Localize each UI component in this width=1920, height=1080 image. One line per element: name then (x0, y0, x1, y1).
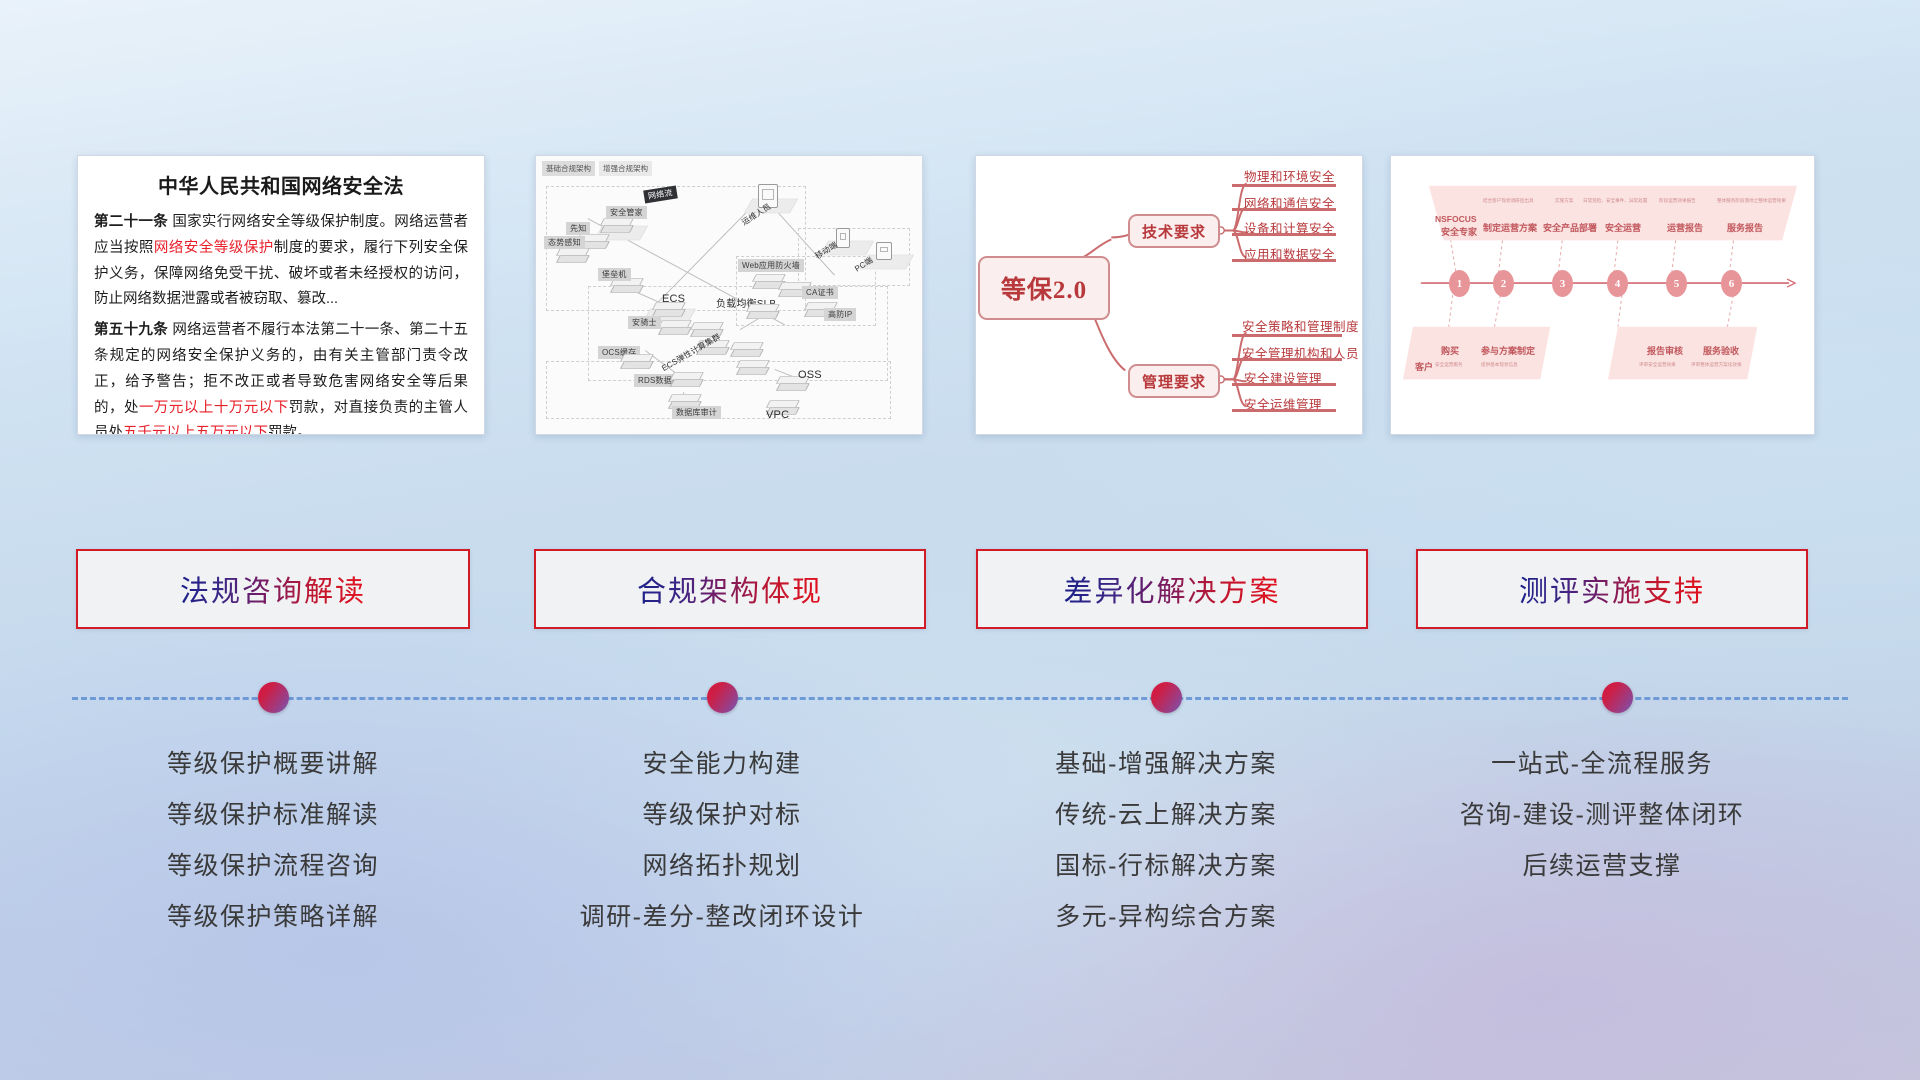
architecture-label-anti-ddos-ip: 高防IP (824, 308, 856, 321)
slide-canvas: 中华人民共和国网络安全法 第二十一条 国家实行网络安全等级保护制度。网络运营者应… (0, 0, 1920, 1080)
list-item: 一站式-全流程服务 (1402, 752, 1802, 777)
timeline-bottom-step-4: 服务验收 (1703, 344, 1739, 357)
timeline-top-sub-2: 实施方案 (1555, 198, 1573, 204)
architecture-label-security-butler: 安全管家 (606, 206, 647, 219)
mindmap-underline-2 (1232, 208, 1336, 211)
timeline-top-step-5: 服务报告 (1727, 221, 1763, 234)
mindmap-branch-management: 管理要求 (1128, 364, 1220, 398)
list-item: 网络拓扑规划 (522, 854, 922, 879)
nsfocus-expert-name: NSFOCUS (1435, 214, 1477, 224)
timeline-node-dot-3[interactable] (1151, 682, 1182, 713)
architecture-label-oss: OSS (794, 368, 826, 382)
architecture-label-bastion-host: 堡垒机 (598, 268, 631, 281)
list-item: 等级保护策略详解 (73, 905, 473, 930)
mindmap-leaf-security-policy-mgmt: 安全策略和管理制度 (1242, 316, 1359, 335)
list-item: 等级保护流程咨询 (73, 854, 473, 879)
timeline-marker-2: 2 (1493, 270, 1514, 297)
law-paragraph-1: 第二十一条 国家实行网络安全等级保护制度。网络运营者应当按照网络安全等级保护制度… (94, 210, 468, 313)
timeline-top-sub-1: 结合客户现状调研后出具 (1483, 198, 1534, 204)
architecture-node-situational-awareness (560, 248, 590, 268)
mindmap-branch-technical: 技术要求 (1128, 214, 1220, 248)
architecture-node-ocs-cache (624, 354, 654, 374)
column-compliance-architecture: 安全能力构建 等级保护对标 网络拓扑规划 调研-差分-整改闭环设计 (522, 752, 922, 930)
architecture-node-ecs-cluster-4 (740, 360, 770, 380)
timeline-marker-3: 3 (1552, 270, 1573, 297)
mindmap-underline-8 (1232, 409, 1336, 412)
mindmap-underline-6 (1232, 358, 1342, 361)
architecture-tab-basic[interactable]: 基础合规架构 (542, 161, 595, 176)
timeline-node-dot-4[interactable] (1602, 682, 1633, 713)
law-paragraph-2: 第五十九条 网络运营者不履行本法第二十一条、第二十五条规定的网络安全保护义务的，… (94, 318, 468, 435)
header-box-assessment-support[interactable]: 测评实施支持 (1416, 549, 1808, 629)
timeline-top-sub-5: 整体服务阶段落地之整体运营效果 (1717, 198, 1786, 204)
card-nsfocus-service-timeline: NSFOCUS 安全专家 结合客户现状调研后出具 制定运营方案 实施方案 安全产… (1390, 155, 1815, 435)
law-title: 中华人民共和国网络安全法 (94, 170, 468, 199)
list-item: 等级保护标准解读 (73, 803, 473, 828)
timeline-bottom-sub-4: 评审整体运营方案化效果 (1691, 362, 1742, 368)
timeline-top-step-4: 运营报告 (1667, 221, 1703, 234)
header-label-compliance-architecture: 合规架构体现 (637, 568, 823, 610)
mindmap-leaf-physical-env-security: 物理和环境安全 (1244, 166, 1335, 185)
list-item: 传统-云上解决方案 (966, 803, 1366, 828)
header-box-compliance-architecture[interactable]: 合规架构体现 (534, 549, 926, 629)
mindmap-underline-4 (1232, 259, 1336, 262)
architecture-node-slb (750, 304, 780, 324)
architecture-label-situational-awareness: 态势感知 (544, 236, 585, 249)
list-item: 多元-异构综合方案 (966, 905, 1366, 930)
architecture-label-anqishi: 安骑士 (628, 316, 661, 329)
law-p1-highlight: 网络安全等级保护 (154, 240, 274, 256)
architecture-node-bastion-host (614, 278, 644, 298)
timeline-marker-4: 4 (1607, 270, 1628, 297)
law-article-21-label: 第二十一条 (94, 214, 168, 230)
architecture-label-ecs: ECS (658, 292, 689, 306)
timeline-bottom-sub-2: 提供基本现状信息 (1481, 362, 1518, 368)
timeline-bottom-sub-3: 评审安全运营效果 (1639, 362, 1676, 368)
mindmap-underline-7 (1232, 383, 1336, 386)
timeline-node-dot-1[interactable] (258, 682, 289, 713)
timeline-node-dot-2[interactable] (707, 682, 738, 713)
timeline-marker-5: 5 (1666, 270, 1687, 297)
list-item: 等级保护对标 (522, 803, 922, 828)
header-label-assessment-support: 测评实施支持 (1519, 568, 1705, 610)
architecture-tab-row[interactable]: 基础合规架构 增强合规架构 (542, 161, 652, 176)
architecture-label-ca-cert: CA证书 (802, 286, 838, 299)
architecture-label-db-audit: 数据库审计 (672, 406, 721, 419)
architecture-node-anqishi (662, 320, 692, 340)
list-item: 等级保护概要讲解 (73, 752, 473, 777)
list-item: 调研-差分-整改闭环设计 (522, 905, 922, 930)
architecture-node-pc (876, 242, 892, 260)
timeline-top-step-1: 制定运营方案 (1483, 221, 1537, 234)
architecture-node-ecs-cluster-3 (734, 342, 764, 362)
timeline-marker-6: 6 (1721, 270, 1742, 297)
timeline-top-step-3: 安全运营 (1605, 221, 1641, 234)
timeline-dashed-rail (72, 697, 1848, 700)
mindmap-root-node: 等保2.0 (978, 256, 1110, 320)
timeline-top-step-2: 安全产品部署 (1543, 221, 1597, 234)
card-cloud-architecture: 基础合规架构 增强合规架构 网络流 安全管家 先知 态势感知 堡垒机 运维人员 … (535, 155, 923, 435)
timeline-bottom-step-2: 参与方案制定 (1481, 344, 1535, 357)
timeline-bottom-step-1: 购买 (1441, 344, 1459, 357)
architecture-label-waf: Web应用防火墙 (738, 259, 804, 272)
law-p2-tail: 罚款。 (268, 425, 312, 435)
mindmap-underline-3 (1232, 233, 1336, 236)
header-box-regulatory-consulting[interactable]: 法规咨询解读 (76, 549, 470, 629)
timeline-bottom-step-3: 报告审核 (1647, 344, 1683, 357)
timeline-top-sub-3: 日常巡检、安全事件、异常处置 (1583, 198, 1647, 204)
law-article-59-label: 第五十九条 (94, 322, 168, 338)
list-item: 国标-行标解决方案 (966, 854, 1366, 879)
card-cybersecurity-law: 中华人民共和国网络安全法 第二十一条 国家实行网络安全等级保护制度。网络运营者应… (77, 155, 485, 435)
law-p2-highlight-1: 一万元以上十万元以下 (139, 400, 289, 416)
law-p2-highlight-2: 五千元以上五万元以下 (123, 425, 268, 435)
timeline-bottom-sub-1: 安全运营服务 (1435, 362, 1463, 368)
column-differentiated-solution: 基础-增强解决方案 传统-云上解决方案 国标-行标解决方案 多元-异构综合方案 (966, 752, 1366, 930)
list-item: 后续运营支撑 (1402, 854, 1802, 879)
nsfocus-expert-role: 安全专家 (1441, 225, 1477, 238)
mindmap-underline-5 (1232, 334, 1342, 337)
list-item: 安全能力构建 (522, 752, 922, 777)
architecture-tab-enhanced[interactable]: 增强合规架构 (599, 161, 652, 176)
list-item: 咨询-建设-测评整体闭环 (1402, 803, 1802, 828)
timeline-marker-1: 1 (1449, 270, 1470, 297)
header-box-differentiated-solution[interactable]: 差异化解决方案 (976, 549, 1368, 629)
timeline-top-sub-4: 阶段运营效果报告 (1659, 198, 1696, 204)
card-mindmap-dengbao: 等保2.0 技术要求 物理和环境安全 网络和通信安全 设备和计算安全 应用和数据… (975, 155, 1363, 435)
list-item: 基础-增强解决方案 (966, 752, 1366, 777)
architecture-node-rds (674, 372, 704, 392)
column-assessment-support: 一站式-全流程服务 咨询-建设-测评整体闭环 后续运营支撑 (1402, 752, 1802, 879)
header-label-regulatory-consulting: 法规咨询解读 (180, 568, 366, 610)
mindmap-underline-1 (1232, 184, 1336, 187)
architecture-label-vpc: VPC (762, 408, 793, 422)
customer-role-label: 客户 (1415, 360, 1433, 373)
architecture-label-xianzhi: 先知 (566, 222, 590, 235)
column-regulatory-consulting: 等级保护概要讲解 等级保护标准解读 等级保护流程咨询 等级保护策略详解 (73, 752, 473, 930)
header-label-differentiated-solution: 差异化解决方案 (1063, 568, 1280, 610)
